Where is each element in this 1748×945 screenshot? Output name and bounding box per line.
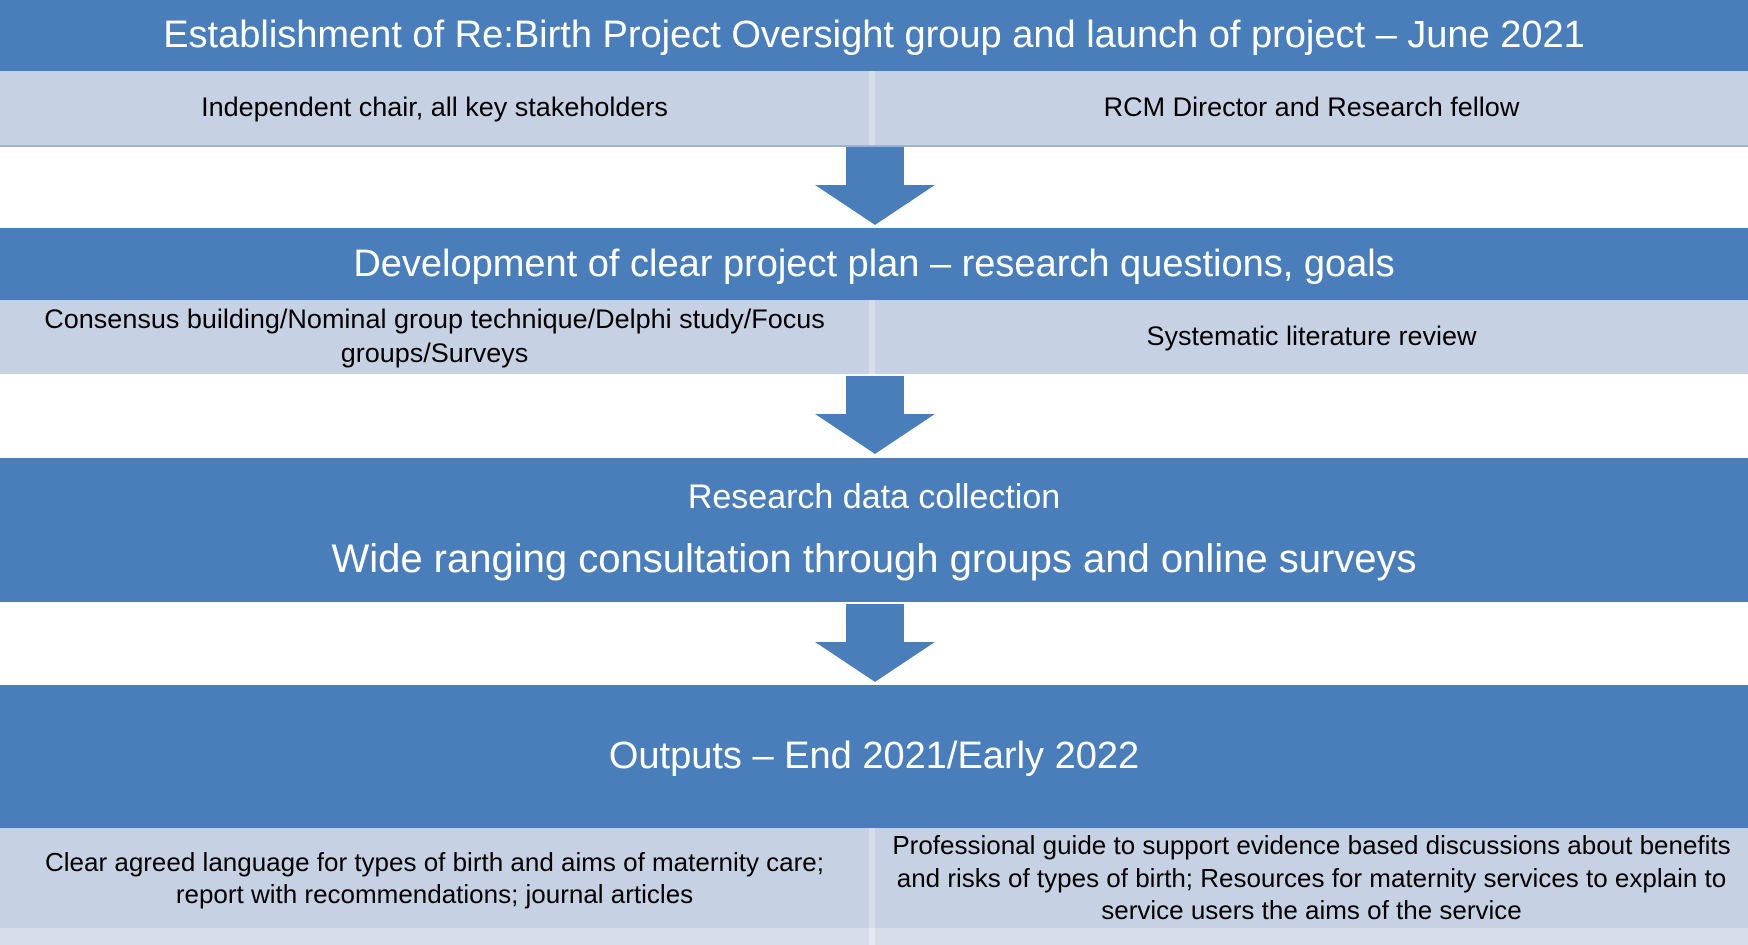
down-arrow-2 xyxy=(815,376,935,454)
step-1-sub-left: Independent chair, all key stakeholders xyxy=(0,71,875,145)
step-3-header: Research data collection Wide ranging co… xyxy=(0,458,1748,602)
down-arrow-1 xyxy=(815,147,935,225)
step-1-sub-right: RCM Director and Research fellow xyxy=(875,71,1748,145)
step-2-sub-right: Systematic literature review xyxy=(875,300,1748,374)
down-arrow-3 xyxy=(815,604,935,682)
step-4-sub-right: Professional guide to support evidence b… xyxy=(875,828,1748,928)
flowchart: Establishment of Re:Birth Project Oversi… xyxy=(0,0,1748,945)
step-1-subrow: Independent chair, all key stakeholders … xyxy=(0,71,1748,145)
bottom-strip-left xyxy=(0,928,875,945)
step-4-sub-left: Clear agreed language for types of birth… xyxy=(0,828,875,928)
bottom-strip xyxy=(0,928,1748,945)
bottom-strip-right xyxy=(875,928,1748,945)
step-3-header-line-2: Wide ranging consultation through groups… xyxy=(331,536,1416,582)
step-4-header: Outputs – End 2021/Early 2022 xyxy=(0,685,1748,828)
step-2-header: Development of clear project plan – rese… xyxy=(0,228,1748,300)
step-2-subrow: Consensus building/Nominal group techniq… xyxy=(0,300,1748,374)
step-4-subrow: Clear agreed language for types of birth… xyxy=(0,828,1748,928)
step-2-sub-left: Consensus building/Nominal group techniq… xyxy=(0,300,875,374)
step-1-header: Establishment of Re:Birth Project Oversi… xyxy=(0,0,1748,71)
step-3-header-line-1: Research data collection xyxy=(688,478,1060,535)
